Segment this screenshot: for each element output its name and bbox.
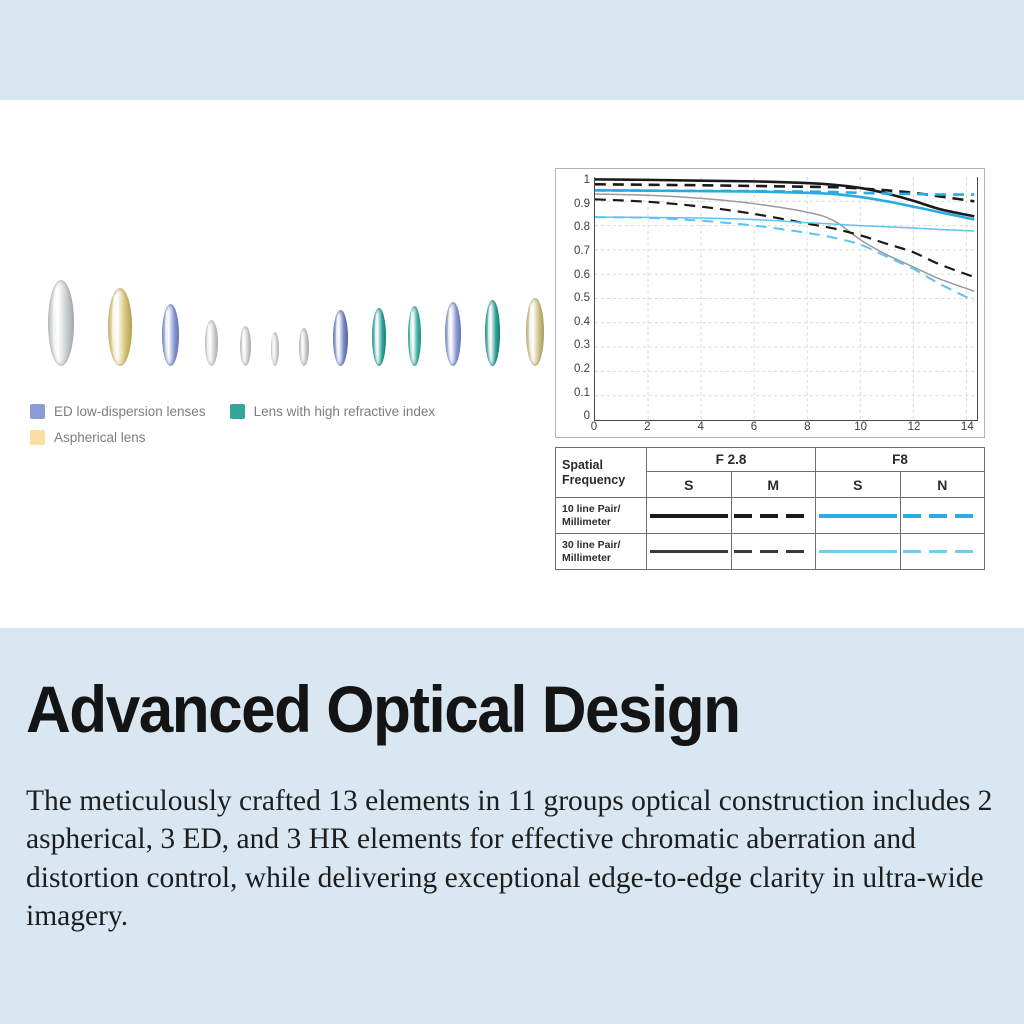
line-sample-solid-black — [650, 514, 728, 518]
lens-element-13-aspherical — [526, 298, 544, 366]
x-tick-6: 6 — [751, 421, 757, 433]
lens-element-10-hr — [408, 306, 421, 366]
lens-element-7-standard — [299, 328, 309, 366]
spatial-frequency-header: Spatial Frequency — [556, 448, 647, 498]
chart-series-f8-n-30lp-mm — [595, 217, 974, 301]
y-tick-0.4: 0.4 — [574, 317, 590, 329]
lens-element-8-ed — [333, 310, 348, 366]
chart-plot-area — [594, 177, 978, 421]
row-label-30-line2: Millimeter — [562, 552, 640, 565]
line-sample-dashed-gray — [734, 550, 812, 553]
legend-label-hr: Lens with high refractive index — [254, 404, 436, 419]
lens-element-2-aspherical — [108, 288, 132, 366]
top-color-band — [0, 0, 1024, 100]
chart-x-axis-ticks: 02468101214 — [594, 421, 978, 439]
chart-y-axis-ticks: 10.90.80.70.60.50.40.30.20.10 — [560, 175, 590, 423]
x-tick-0: 0 — [591, 421, 597, 433]
y-tick-0.8: 0.8 — [574, 222, 590, 234]
sample-f8-s-30 — [816, 534, 901, 570]
lens-element-row — [30, 250, 530, 380]
y-tick-0.3: 0.3 — [574, 340, 590, 352]
x-tick-4: 4 — [697, 421, 703, 433]
lens-element-4-standard — [205, 320, 218, 366]
lens-element-12-hr — [485, 300, 500, 366]
chart-series-f8-s-30lp-mm — [595, 217, 974, 231]
x-tick-2: 2 — [644, 421, 650, 433]
y-tick-0.1: 0.1 — [574, 388, 590, 400]
y-tick-0.7: 0.7 — [574, 246, 590, 258]
row-label-10lpmm: 10 line Pair/ Millimeter — [556, 498, 647, 534]
line-sample-dashed-lightcyan — [903, 550, 981, 553]
x-tick-14: 14 — [961, 421, 974, 433]
x-tick-12: 12 — [908, 421, 921, 433]
lens-element-1-standard — [48, 280, 74, 366]
x-tick-8: 8 — [804, 421, 810, 433]
legend-item-aspherical: Aspherical lens — [30, 430, 146, 445]
chart-series-f2-8-m-30lp-mm — [595, 199, 974, 277]
group-header-f28: F 2.8 — [647, 448, 816, 472]
sample-f28-m-30 — [731, 534, 816, 570]
table-row: 30 line Pair/ Millimeter — [556, 534, 985, 570]
lens-element-11-ed — [445, 302, 461, 366]
y-tick-0.2: 0.2 — [574, 364, 590, 376]
x-tick-10: 10 — [854, 421, 867, 433]
chart-curves — [595, 177, 977, 420]
lens-element-3-ed — [162, 304, 179, 366]
line-sample-solid-gray — [650, 550, 728, 553]
y-tick-0: 0 — [584, 411, 590, 423]
line-sample-solid-lightcyan — [819, 550, 897, 553]
legend-swatch-aspherical — [30, 430, 45, 445]
legend-label-ed: ED low-dispersion lenses — [54, 404, 206, 419]
row-label-10-line1: 10 line Pair/ — [562, 503, 640, 516]
body-paragraph: The meticulously crafted 13 elements in … — [26, 782, 1006, 935]
spatial-label-line1: Spatial — [562, 458, 640, 472]
line-sample-dashed-black — [734, 514, 812, 518]
sample-f28-m-10 — [731, 498, 816, 534]
spatial-label-line2: Frequency — [562, 473, 640, 487]
group-header-f8: F8 — [816, 448, 985, 472]
row-label-30lpmm: 30 line Pair/ Millimeter — [556, 534, 647, 570]
sample-f8-s-10 — [816, 498, 901, 534]
col-header-f28-s: S — [647, 472, 732, 498]
legend-item-hr: Lens with high refractive index — [230, 404, 436, 419]
mtf-chart: 10.90.80.70.60.50.40.30.20.10 0246810121… — [555, 168, 985, 438]
col-header-f28-m: M — [731, 472, 816, 498]
col-header-f8-s: S — [816, 472, 901, 498]
row-label-10-line2: Millimeter — [562, 516, 640, 529]
lens-element-6-standard — [271, 332, 279, 366]
legend-swatch-ed — [30, 404, 45, 419]
legend-label-aspherical: Aspherical lens — [54, 430, 146, 445]
row-label-30-line1: 30 line Pair/ — [562, 539, 640, 552]
col-header-f8-n: N — [900, 472, 985, 498]
sample-f28-s-30 — [647, 534, 732, 570]
lens-element-5-standard — [240, 326, 251, 366]
legend-item-ed: ED low-dispersion lenses — [30, 404, 206, 419]
sample-f8-n-10 — [900, 498, 985, 534]
lens-legend: ED low-dispersion lenses Lens with high … — [30, 404, 530, 456]
lens-element-9-hr — [372, 308, 386, 366]
y-tick-0.5: 0.5 — [574, 293, 590, 305]
mtf-legend-table: Spatial Frequency F 2.8 F8 S M S N 10 li… — [555, 447, 985, 570]
sample-f28-s-10 — [647, 498, 732, 534]
sample-f8-n-30 — [900, 534, 985, 570]
y-tick-1: 1 — [584, 175, 590, 187]
line-sample-solid-cyan — [819, 514, 897, 518]
line-sample-dashed-cyan — [903, 514, 981, 518]
table-row: 10 line Pair/ Millimeter — [556, 498, 985, 534]
table-header-row-groups: Spatial Frequency F 2.8 F8 — [556, 448, 985, 472]
page-title: Advanced Optical Design — [26, 676, 740, 742]
y-tick-0.6: 0.6 — [574, 270, 590, 282]
legend-swatch-hr — [230, 404, 245, 419]
y-tick-0.9: 0.9 — [574, 199, 590, 211]
